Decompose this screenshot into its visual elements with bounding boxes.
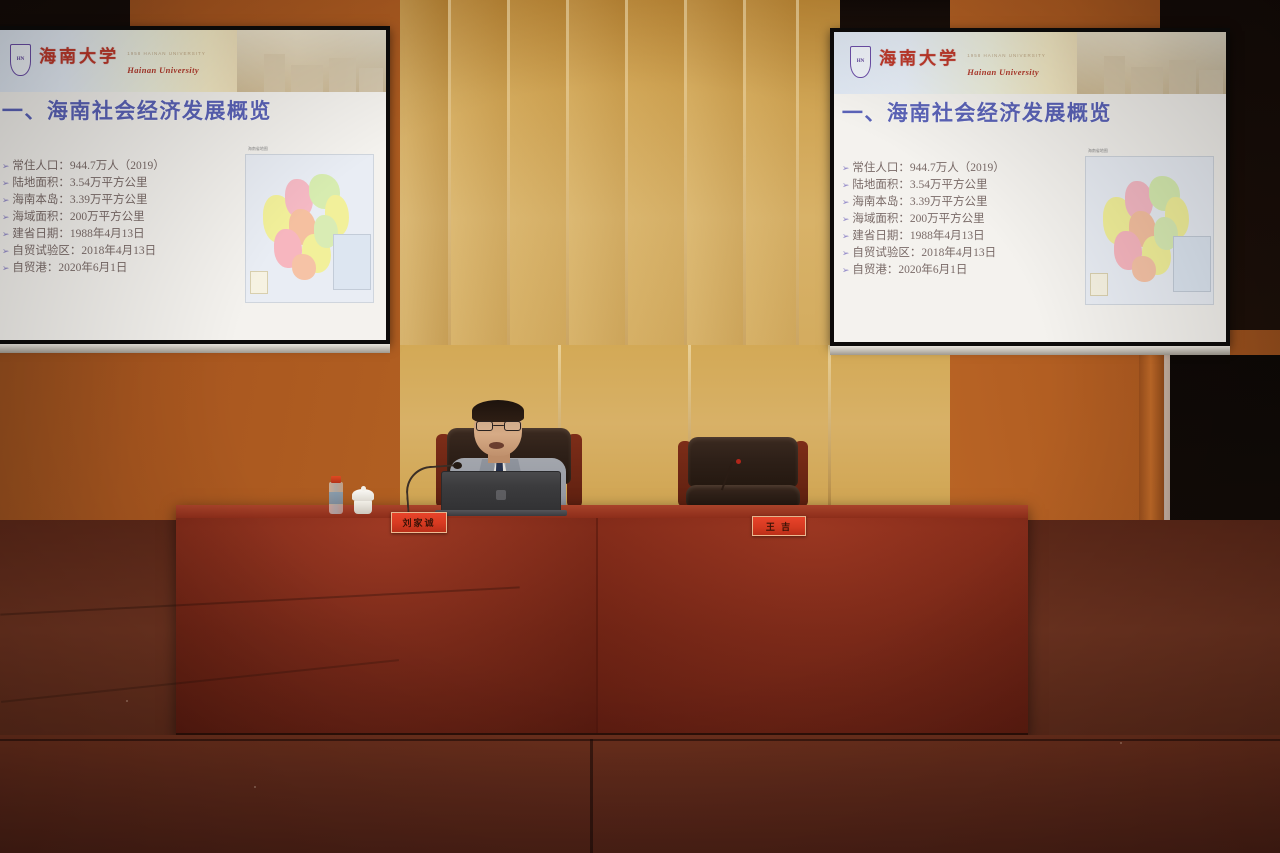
table-top-edge [176,505,1028,518]
bullet-marker-icon: ➢ [842,248,850,259]
header-campus-photo [237,30,386,92]
shield-initials: HN [17,57,25,62]
list-item: ➢常住人口：944.7万人（2019） [2,157,237,173]
bullet-marker-icon: ➢ [2,195,10,206]
bullet-text: 自贸港：2020年6月1日 [12,259,127,275]
right-projection-screen: HN 海南大学 1958 HAINAN UNIVERSITY Hainan Un… [830,28,1230,346]
list-item: ➢自贸试验区：2018年4月13日 [2,242,237,258]
nameplate-text: 刘家诚 [402,516,435,529]
bullet-marker-icon: ➢ [2,212,10,223]
header-campus-photo [1077,32,1226,94]
university-name-cn: 海南大学 [39,42,119,67]
laptop-computer [435,471,567,515]
hainan-map-image: 海南省地图 [1085,156,1214,305]
laptop-screen-lid [441,471,561,511]
nameplate-right: 王 吉 [752,516,806,536]
conference-table [176,505,1028,737]
glasses-icon [476,421,521,431]
bullet-text: 陆地面积：3.54万平方公里 [852,176,987,192]
bullet-marker-icon: ➢ [2,161,10,172]
nameplate-left: 刘家诚 [391,512,447,533]
slide-title-right: 一、海南社会经济发展概览 [842,97,1112,127]
speaker-hair [472,400,524,422]
bullet-text: 陆地面积：3.54万平方公里 [12,174,147,190]
list-item: ➢陆地面积：3.54万平方公里 [842,176,1077,192]
slide-right: HN 海南大学 1958 HAINAN UNIVERSITY Hainan Un… [834,32,1226,342]
bullet-marker-icon: ➢ [2,263,10,274]
list-item: ➢海域面积：200万平方公里 [842,210,1077,226]
slide-bullet-list-right: ➢常住人口：944.7万人（2019） ➢陆地面积：3.54万平方公里 ➢海南本… [842,159,1077,278]
university-shield-icon: HN [850,46,872,78]
bullet-marker-icon: ➢ [842,231,850,242]
nameplate-text: 王 吉 [766,520,792,533]
university-name-en-faint: 1958 HAINAN UNIVERSITY [967,53,1046,58]
speaker-mouth [489,442,504,449]
list-item: ➢自贸港：2020年6月1日 [842,261,1077,277]
shield-initials: HN [857,59,865,64]
list-item: ➢建省日期：1988年4月13日 [842,227,1077,243]
list-item: ➢海南本岛：3.39万平方公里 [2,191,237,207]
bullet-text: 常住人口：944.7万人（2019） [852,159,1004,175]
map-inset [1173,236,1211,292]
bullet-marker-icon: ➢ [2,246,10,257]
lidded-teacup [352,489,374,514]
slide-bullet-list-left: ➢常住人口：944.7万人（2019） ➢陆地面积：3.54万平方公里 ➢海南本… [2,157,237,276]
stage-floor-front [0,735,1280,853]
lecture-hall-scene: HN 海南大学 1958 HAINAN UNIVERSITY Hainan Un… [0,0,1280,853]
list-item: ➢陆地面积：3.54万平方公里 [2,174,237,190]
laptop-base [435,510,567,516]
bullet-marker-icon: ➢ [842,214,850,225]
bullet-text: 建省日期：1988年4月13日 [852,227,984,243]
list-item: ➢海南本岛：3.39万平方公里 [842,193,1077,209]
screen-bottom-bar [830,346,1230,355]
empty-leather-chair [678,437,808,509]
university-name-en: Hainan University [967,67,1039,77]
map-caption: 海南省地图 [1088,148,1108,154]
slide-header-band: HN 海南大学 1958 HAINAN UNIVERSITY Hainan Un… [0,30,386,92]
map-caption: 海南省地图 [248,146,268,152]
slide-title-left: 一、海南社会经济发展概览 [2,95,272,125]
bullet-text: 自贸试验区：2018年4月13日 [852,244,996,260]
laptop-logo [496,490,506,500]
list-item: ➢海域面积：200万平方公里 [2,208,237,224]
bullet-text: 海南本岛：3.39万平方公里 [852,193,987,209]
list-item: ➢常住人口：944.7万人（2019） [842,159,1077,175]
bullet-marker-icon: ➢ [842,265,850,276]
bullet-marker-icon: ➢ [842,197,850,208]
bullet-text: 自贸港：2020年6月1日 [852,261,967,277]
bullet-text: 建省日期：1988年4月13日 [12,225,144,241]
university-name-en-faint: 1958 HAINAN UNIVERSITY [127,51,206,56]
map-inset [333,234,371,290]
slide-left: HN 海南大学 1958 HAINAN UNIVERSITY Hainan Un… [0,30,386,340]
university-name-en: Hainan University [127,65,199,75]
university-shield-icon: HN [10,44,32,76]
map-legend [250,271,268,294]
bullet-marker-icon: ➢ [842,163,850,174]
bullet-text: 自贸试验区：2018年4月13日 [12,242,156,258]
bullet-text: 海域面积：200万平方公里 [852,210,984,226]
bullet-text: 海南本岛：3.39万平方公里 [12,191,147,207]
bullet-marker-icon: ➢ [2,229,10,240]
left-projection-screen: HN 海南大学 1958 HAINAN UNIVERSITY Hainan Un… [0,26,390,344]
screen-bottom-bar [0,344,390,353]
map-legend [1090,273,1108,296]
water-bottle [329,476,343,514]
list-item: ➢自贸试验区：2018年4月13日 [842,244,1077,260]
list-item: ➢自贸港：2020年6月1日 [2,259,237,275]
hainan-map-image: 海南省地图 [245,154,374,303]
bullet-marker-icon: ➢ [842,180,850,191]
bullet-marker-icon: ➢ [2,178,10,189]
bullet-text: 常住人口：944.7万人（2019） [12,157,164,173]
list-item: ➢建省日期：1988年4月13日 [2,225,237,241]
slide-header-band: HN 海南大学 1958 HAINAN UNIVERSITY Hainan Un… [834,32,1226,94]
university-name-cn: 海南大学 [879,44,959,69]
bullet-text: 海域面积：200万平方公里 [12,208,144,224]
